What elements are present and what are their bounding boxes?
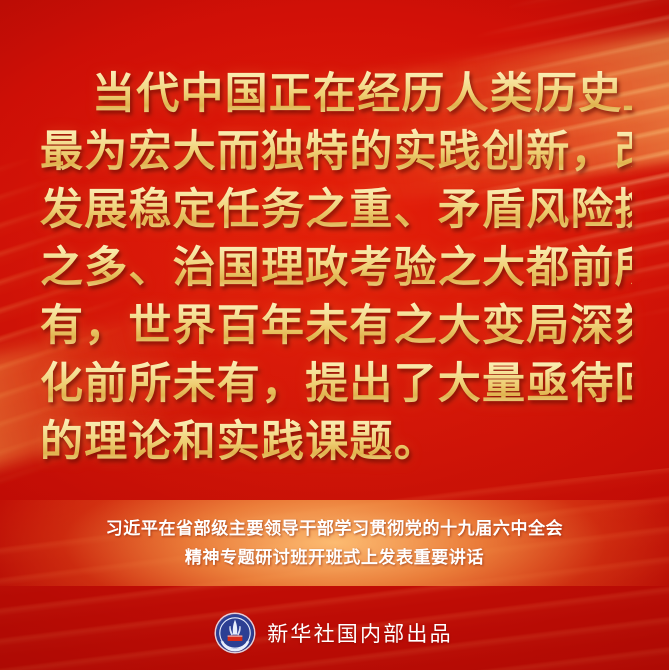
headline-line-1: 当代中国正在经历人类历史上 xyxy=(40,66,632,124)
caption-line-1: 习近平在省部级主要领导干部学习贯彻党的十九届六中全会 xyxy=(106,514,564,543)
svg-text:XINHUA: XINHUA xyxy=(228,643,243,647)
headline-line-3: 发展稳定任务之重、矛盾风险挑战 xyxy=(40,182,632,240)
headline-line-4: 之多、治国理政考验之大都前所未 xyxy=(40,240,632,298)
caption-line-2: 精神专题研讨班开班式上发表重要讲话 xyxy=(185,543,484,572)
headline-line-7: 的理论和实践课题。 xyxy=(40,414,632,472)
poster-canvas: 当代中国正在经历人类历史上 最为宏大而独特的实践创新，改革 发展稳定任务之重、矛… xyxy=(0,0,669,670)
headline-quote: 当代中国正在经历人类历史上 最为宏大而独特的实践创新，改革 发展稳定任务之重、矛… xyxy=(40,66,632,472)
headline-line-6: 化前所未有，提出了大量亟待回答 xyxy=(40,356,632,414)
footer-attribution: XINHUA 新华社国内部出品 xyxy=(0,596,669,670)
headline-line-5: 有，世界百年未有之大变局深刻变 xyxy=(40,298,632,356)
headline-line-2: 最为宏大而独特的实践创新，改革 xyxy=(40,124,632,182)
xinhua-emblem-icon: XINHUA xyxy=(216,614,254,652)
caption-band: 习近平在省部级主要领导干部学习贯彻党的十九届六中全会 精神专题研讨班开班式上发表… xyxy=(0,500,669,586)
footer-text: 新华社国内部出品 xyxy=(267,618,453,648)
